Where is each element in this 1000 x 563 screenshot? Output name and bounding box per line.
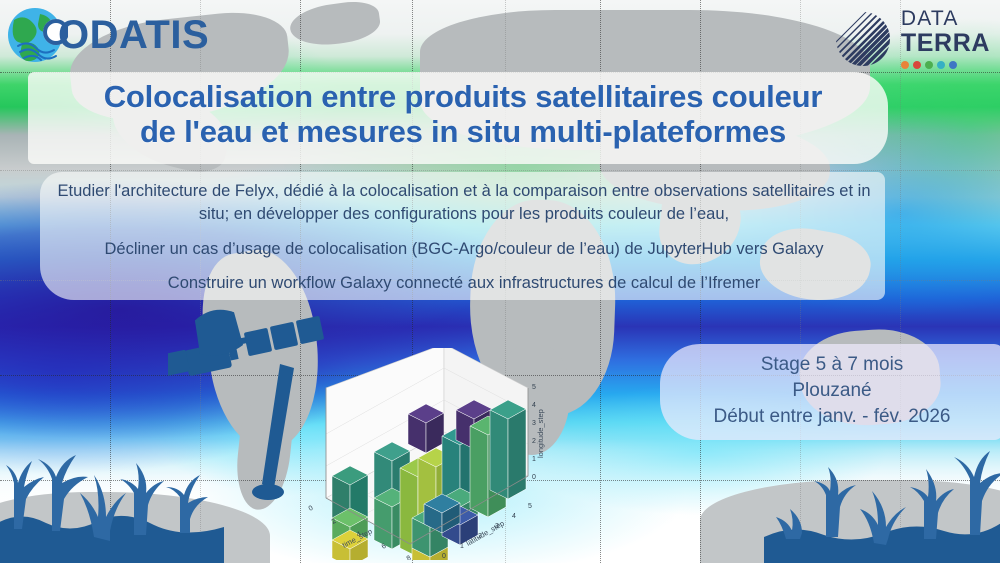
svg-text:0: 0: [442, 553, 446, 560]
dot-red: [913, 61, 921, 69]
dataterra-logo[interactable]: DATA TERRA: [834, 8, 990, 69]
title-line-1: Colocalisation entre produits satellitai…: [38, 80, 888, 115]
odatis-wordmark: ODATIS: [58, 15, 209, 55]
svg-text:0: 0: [308, 505, 315, 513]
svg-text:5: 5: [532, 384, 536, 391]
dot-teal: [937, 61, 945, 69]
objective-item: Décliner un cas d’usage de colocalisatio…: [48, 238, 880, 261]
svg-text:0: 0: [532, 474, 536, 481]
internship-duration: Stage 5 à 7 mois: [672, 352, 992, 378]
graticule-meridian: [900, 0, 901, 563]
internship-location: Plouzané: [672, 378, 992, 404]
svg-text:1: 1: [460, 543, 464, 550]
graticule-parallel: [0, 170, 1000, 171]
svg-text:4: 4: [512, 513, 516, 520]
internship-details: Stage 5 à 7 mois Plouzané Début entre ja…: [672, 352, 992, 429]
objectives-list: Etudier l'architecture de Felyx, dédié à…: [48, 180, 880, 296]
dot-blue: [949, 61, 957, 69]
svg-text:8: 8: [406, 555, 413, 560]
dataterra-dots: [901, 61, 990, 69]
dot-green: [925, 61, 933, 69]
dataterra-wordmark: DATA TERRA: [901, 8, 990, 69]
poster-canvas: ODATIS DATA TERRA: [0, 0, 1000, 563]
objective-item: Construire un workflow Galaxy connecté a…: [48, 272, 880, 295]
svg-text:4: 4: [532, 402, 536, 409]
dot-orange: [901, 61, 909, 69]
chart-zlabel: longitude_step: [536, 409, 545, 458]
striped-circle-icon: [834, 10, 892, 68]
odatis-logo[interactable]: ODATIS: [6, 4, 209, 66]
voxel-3d-svg: 0 2 4 6 8 0 1 2 3 4 5 0 1 2 3 4: [292, 348, 546, 560]
dataterra-line-2: TERRA: [901, 31, 990, 56]
title-line-2: de l'eau et mesures in situ multi-platef…: [38, 115, 888, 150]
page-title: Colocalisation entre produits satellitai…: [38, 80, 888, 149]
internship-start: Début entre janv. - fév. 2026: [672, 404, 992, 430]
dataterra-line-1: DATA: [901, 8, 990, 29]
objective-item: Etudier l'architecture de Felyx, dédié à…: [48, 180, 880, 227]
svg-text:5: 5: [528, 503, 532, 510]
voxel-3d-chart: 0 2 4 6 8 0 1 2 3 4 5 0 1 2 3 4: [292, 348, 546, 560]
